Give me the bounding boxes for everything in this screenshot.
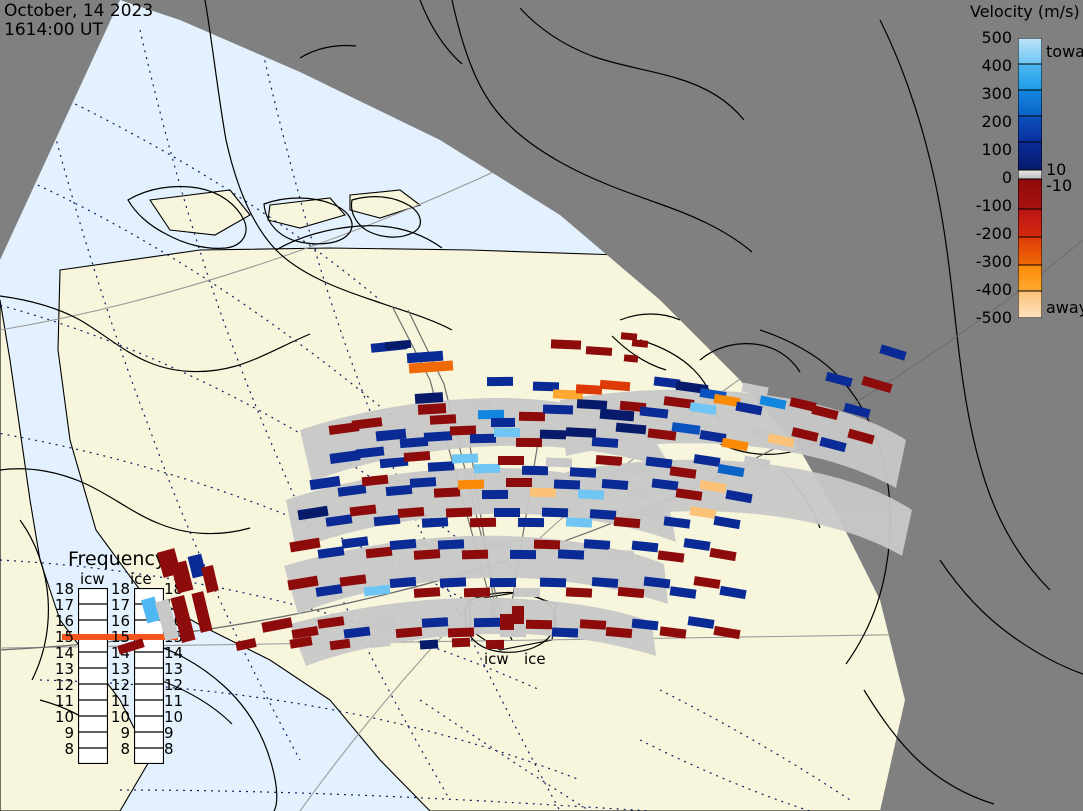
velocity-cell	[570, 467, 596, 477]
velocity-cell	[498, 456, 524, 465]
velocity-cell	[390, 539, 417, 550]
velocity-cell	[317, 616, 344, 629]
velocity-cell	[261, 617, 292, 632]
velocity-cell	[847, 429, 874, 445]
velocity-cell	[452, 454, 478, 464]
velocity-cell	[644, 577, 671, 589]
velocity-cell	[721, 438, 748, 451]
velocity-cell	[350, 505, 377, 517]
velocity-cell	[422, 617, 449, 628]
velocity-cell	[385, 340, 412, 350]
velocity-cell	[522, 466, 548, 475]
velocity-cell	[430, 414, 456, 424]
velocity-cell	[819, 437, 846, 452]
velocity-cell	[566, 427, 596, 438]
velocity-cell	[519, 412, 545, 421]
velocity-cell	[474, 618, 500, 628]
velocity-cell	[725, 490, 752, 503]
velocity-cell	[741, 383, 768, 397]
velocity-cell	[424, 431, 452, 442]
velocity-cell	[370, 617, 397, 629]
velocity-cell	[420, 639, 439, 649]
velocity-cell	[491, 418, 515, 427]
velocity-cell	[404, 451, 431, 462]
velocity-cell	[640, 406, 669, 418]
velocity-cell	[446, 507, 472, 517]
velocity-cell	[578, 489, 605, 500]
velocity-cell	[464, 588, 490, 598]
velocity-cell	[861, 376, 892, 393]
velocity-data-layer	[0, 0, 1083, 811]
velocity-cell	[600, 380, 631, 391]
velocity-cell	[652, 478, 679, 490]
velocity-cell	[676, 488, 703, 500]
velocity-cell	[438, 539, 464, 549]
velocity-cell	[458, 480, 484, 490]
velocity-cell	[580, 619, 607, 630]
velocity-cell	[386, 485, 413, 496]
velocity-cell	[596, 455, 623, 466]
velocity-cell	[516, 438, 542, 447]
velocity-cell	[470, 518, 496, 528]
velocity-cell	[500, 614, 514, 630]
velocity-cell	[356, 446, 385, 458]
velocity-cell	[699, 480, 726, 493]
velocity-cell	[510, 550, 536, 559]
velocity-cell	[670, 466, 697, 478]
velocity-cell	[693, 576, 720, 589]
velocity-cell	[487, 377, 513, 386]
velocity-cell	[586, 346, 612, 356]
velocity-cell	[494, 428, 520, 437]
velocity-cell	[329, 639, 350, 651]
velocity-cell	[518, 518, 544, 527]
velocity-cell	[592, 577, 619, 588]
velocity-cell	[558, 549, 584, 559]
velocity-cell	[717, 464, 744, 477]
velocity-cell	[289, 538, 320, 553]
velocity-cell	[366, 547, 393, 559]
fan-plot-canvas: #datalayer{z-index:2;} October, 14 20231…	[0, 0, 1083, 811]
velocity-cell	[364, 585, 391, 597]
velocity-cell	[687, 616, 714, 629]
velocity-cell	[482, 490, 508, 499]
velocity-cell	[297, 506, 328, 521]
velocity-cell	[879, 344, 906, 360]
velocity-cell	[490, 578, 516, 587]
velocity-cell	[326, 514, 353, 526]
velocity-cell	[620, 465, 647, 476]
velocity-cell	[683, 538, 710, 551]
velocity-cell	[287, 576, 318, 591]
velocity-cell	[825, 372, 852, 387]
velocity-cell	[362, 475, 389, 487]
velocity-cell	[486, 540, 512, 549]
velocity-cell	[638, 507, 665, 519]
velocity-cell	[614, 517, 641, 528]
velocity-cell	[309, 476, 340, 490]
velocity-cell	[474, 464, 500, 474]
velocity-cell	[380, 457, 409, 469]
velocity-cell	[370, 637, 391, 648]
velocity-cell	[664, 396, 695, 409]
velocity-cell	[201, 565, 219, 593]
velocity-cell	[342, 536, 369, 548]
velocity-cell	[434, 487, 460, 497]
velocity-cell	[616, 423, 647, 435]
velocity-cell	[658, 550, 685, 562]
velocity-cell	[414, 549, 441, 560]
velocity-cell	[592, 437, 619, 448]
velocity-cell	[767, 433, 794, 447]
velocity-cell	[448, 627, 474, 637]
velocity-cell	[390, 577, 417, 588]
velocity-cell	[602, 479, 629, 490]
velocity-cell	[590, 509, 617, 520]
velocity-cell	[566, 517, 592, 527]
velocity-cell	[632, 339, 649, 348]
velocity-cell	[719, 586, 746, 599]
velocity-cell	[709, 548, 736, 561]
velocity-cell	[315, 584, 342, 597]
velocity-cell	[428, 461, 454, 471]
velocity-cell	[317, 546, 344, 559]
velocity-cell	[566, 587, 592, 597]
velocity-cell	[191, 591, 212, 633]
velocity-cell	[422, 517, 449, 528]
velocity-cell	[407, 351, 444, 364]
velocity-cell	[398, 507, 425, 518]
velocity-cell	[530, 488, 556, 498]
velocity-cell	[689, 506, 716, 519]
velocity-cell	[552, 627, 578, 637]
velocity-cell	[811, 405, 838, 420]
velocity-cell	[344, 626, 371, 638]
velocity-cell	[632, 541, 659, 553]
velocity-cell	[512, 606, 524, 624]
velocity-cell	[576, 384, 602, 395]
velocity-cell	[514, 588, 540, 597]
velocity-cell	[554, 479, 580, 489]
velocity-cell	[486, 640, 504, 649]
velocity-cell	[452, 638, 470, 648]
velocity-cell	[117, 638, 144, 654]
velocity-cell	[540, 578, 566, 588]
velocity-cell	[506, 478, 532, 487]
velocity-cell	[494, 508, 520, 517]
velocity-cell	[584, 539, 611, 550]
velocity-cell	[396, 627, 423, 638]
velocity-cell	[546, 458, 572, 468]
velocity-cell	[374, 515, 401, 527]
velocity-cell	[340, 574, 367, 586]
velocity-cell	[606, 627, 633, 638]
velocity-cell	[628, 489, 655, 501]
velocity-cell	[713, 626, 740, 639]
velocity-cell	[735, 402, 762, 416]
velocity-cell	[543, 404, 573, 414]
velocity-cell	[624, 354, 639, 362]
velocity-cell	[291, 626, 318, 639]
velocity-cell	[618, 587, 645, 598]
velocity-cell	[338, 484, 367, 496]
velocity-cell	[418, 403, 447, 415]
velocity-cell	[352, 417, 383, 429]
velocity-cell	[540, 430, 566, 440]
velocity-cell	[462, 550, 488, 560]
velocity-cell	[542, 508, 568, 518]
velocity-cell	[577, 399, 607, 410]
velocity-cell	[470, 400, 492, 410]
velocity-cell	[534, 540, 560, 550]
velocity-cell	[608, 549, 635, 560]
velocity-cell	[713, 516, 740, 529]
velocity-cell	[478, 410, 504, 419]
velocity-cell	[646, 457, 673, 469]
velocity-cell	[759, 395, 786, 409]
velocity-cell	[551, 339, 581, 349]
velocity-cell	[664, 516, 691, 528]
velocity-cell	[670, 586, 697, 598]
velocity-cell	[843, 403, 870, 419]
velocity-cell	[235, 638, 256, 651]
velocity-cell	[693, 454, 720, 467]
velocity-cell	[632, 619, 659, 631]
velocity-cell	[689, 402, 716, 415]
velocity-cell	[415, 392, 444, 404]
velocity-cell	[450, 425, 476, 435]
velocity-cell	[526, 620, 552, 630]
velocity-cell	[791, 427, 818, 442]
velocity-cell	[414, 587, 441, 598]
velocity-cell	[470, 434, 496, 444]
velocity-cell	[660, 626, 687, 638]
velocity-cell	[410, 477, 437, 488]
velocity-cell	[743, 456, 770, 470]
velocity-cell	[440, 577, 466, 587]
